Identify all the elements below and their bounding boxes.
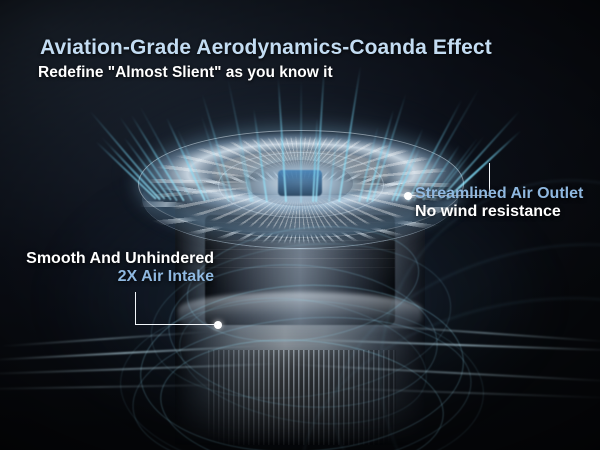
page-title: Aviation-Grade Aerodynamics-Coanda Effec…: [40, 36, 492, 60]
callout-air-intake-line2: 2X Air Intake: [6, 268, 214, 286]
callout-2x-air-intake: Smooth And Unhindered 2X Air Intake: [6, 250, 214, 286]
callout-air-outlet-line1: Streamlined Air Outlet: [415, 185, 583, 203]
callout-air-outlet-line2: No wind resistance: [415, 203, 583, 221]
callout-leader-v-air-intake: [135, 292, 136, 325]
callout-streamlined-air-outlet: Streamlined Air Outlet No wind resistanc…: [415, 185, 583, 221]
callout-leader-h-air-intake: [135, 324, 217, 325]
page-subtitle: Redefine "Almost Slient" as you know it: [38, 64, 333, 82]
callout-air-intake-line1: Smooth And Unhindered: [6, 250, 214, 268]
product-feature-banner: Aviation-Grade Aerodynamics-Coanda Effec…: [0, 0, 600, 450]
